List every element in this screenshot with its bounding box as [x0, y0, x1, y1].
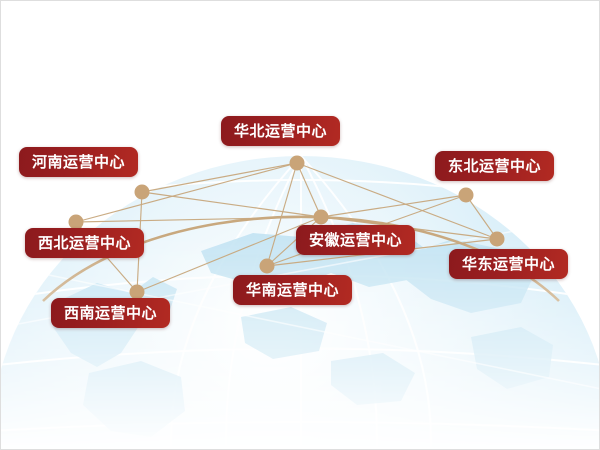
center-badge-label: 安徽运营中心: [309, 233, 402, 248]
center-badge-henan[interactable]: 河南运营中心: [19, 147, 138, 177]
center-badge-label: 河南运营中心: [32, 155, 125, 170]
center-badge-huanan[interactable]: 华南运营中心: [233, 275, 352, 305]
center-badge-huabei[interactable]: 华北运营中心: [221, 116, 340, 146]
center-badge-label: 西南运营中心: [64, 306, 157, 321]
center-badge-label: 东北运营中心: [448, 159, 541, 174]
connection-line: [321, 195, 466, 217]
operations-center-network-graphic: 华北运营中心河南运营中心东北运营中心西北运营中心安徽运营中心华东运营中心华南运营…: [0, 0, 600, 450]
center-badge-label: 华北运营中心: [234, 124, 327, 139]
network-node-huabei[interactable]: [290, 156, 305, 171]
center-badge-label: 华东运营中心: [462, 257, 555, 272]
center-badge-huadong[interactable]: 华东运营中心: [449, 249, 568, 279]
connection-line: [466, 195, 497, 239]
center-badge-label: 西北运营中心: [38, 236, 131, 251]
center-badge-xinan[interactable]: 西南运营中心: [51, 298, 170, 328]
center-badge-anhui[interactable]: 安徽运营中心: [296, 225, 415, 255]
network-node-henan[interactable]: [135, 185, 150, 200]
network-node-huanan[interactable]: [260, 259, 275, 274]
connection-line: [142, 163, 297, 192]
link-group: [76, 163, 497, 292]
connection-line: [142, 192, 321, 217]
network-node-huadong[interactable]: [490, 232, 505, 247]
center-badge-dongbei[interactable]: 东北运营中心: [435, 151, 554, 181]
center-badge-xibei[interactable]: 西北运营中心: [25, 228, 144, 258]
center-badge-label: 华南运营中心: [246, 283, 339, 298]
connection-line: [76, 217, 321, 222]
network-node-anhui[interactable]: [314, 210, 329, 225]
network-node-dongbei[interactable]: [459, 188, 474, 203]
connection-line: [267, 163, 297, 266]
